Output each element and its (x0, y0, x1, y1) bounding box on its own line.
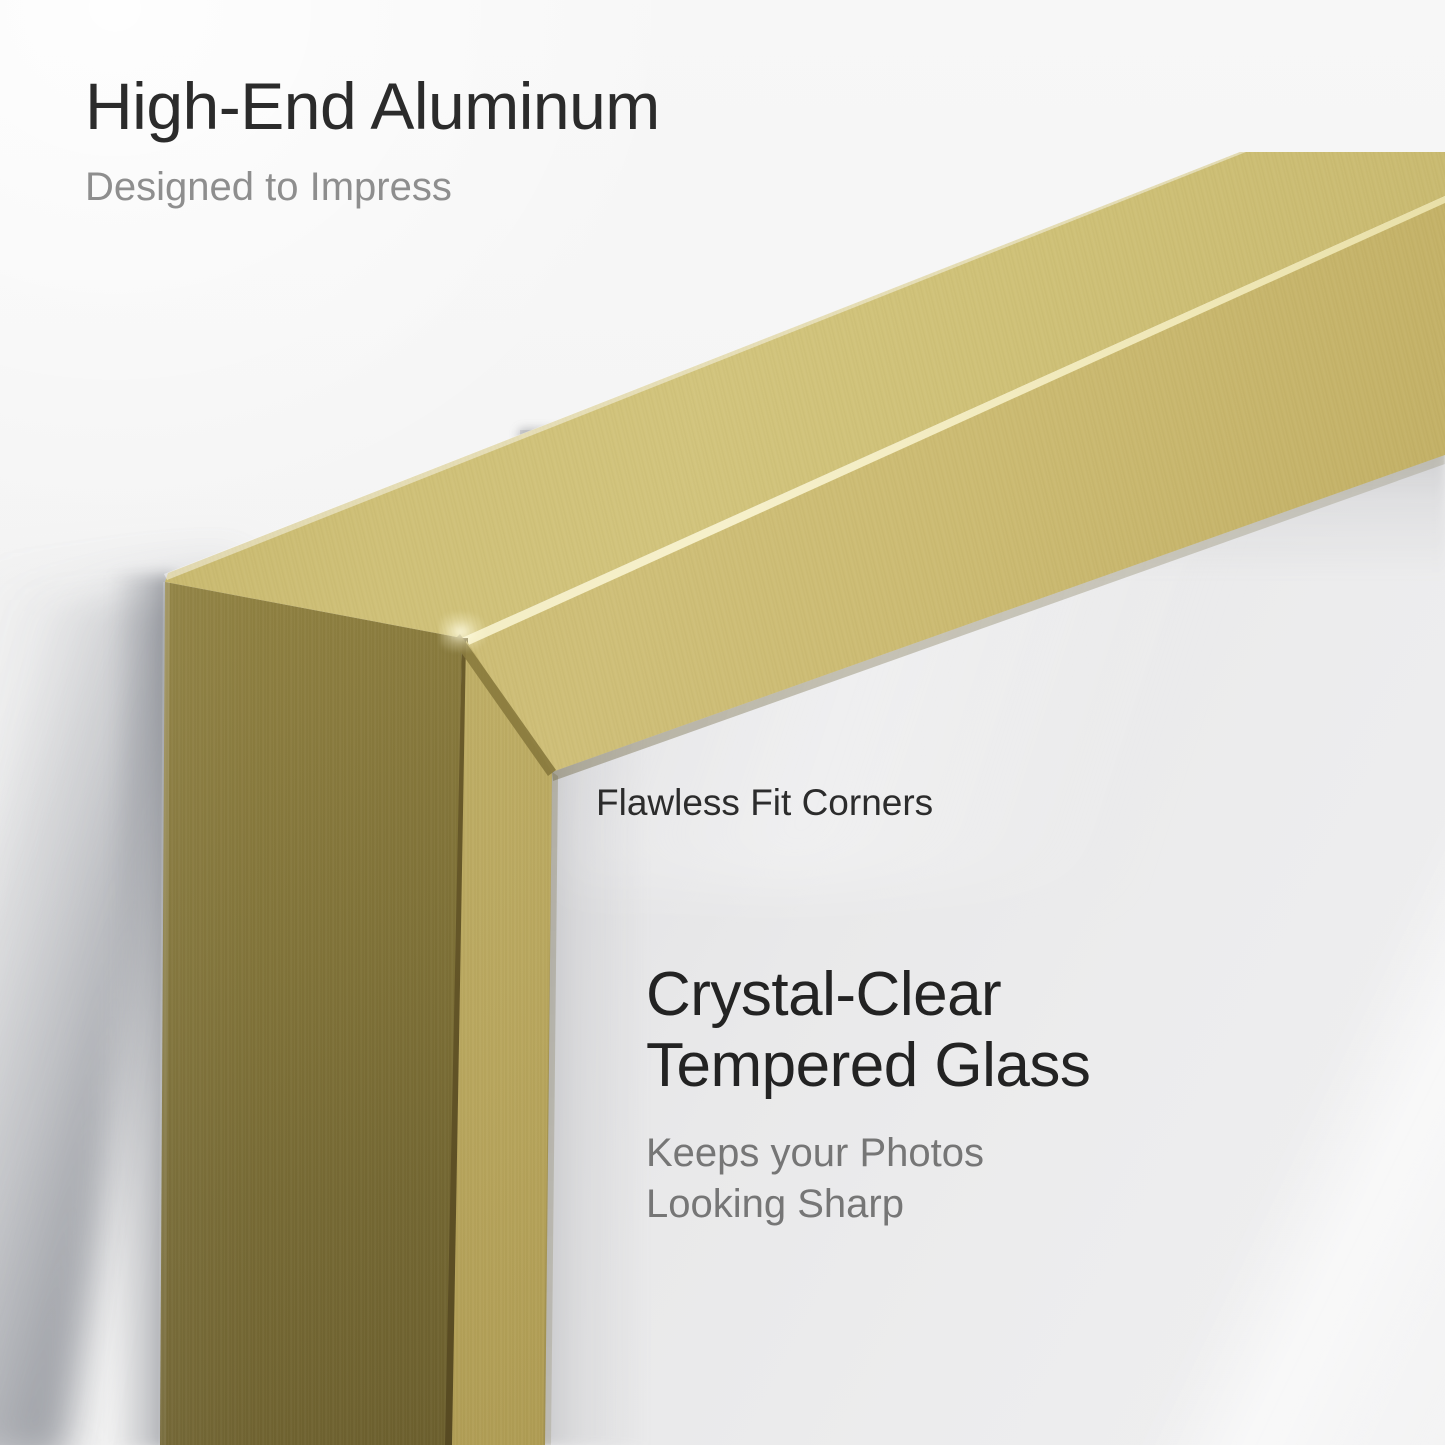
glass-callout-heading-line-1: Crystal-Clear (646, 960, 1090, 1031)
glass-callout-sub-line-2: Looking Sharp (646, 1180, 1090, 1229)
glass-callout-heading-line-2: Tempered Glass (646, 1031, 1090, 1102)
page-title: High-End Aluminum (85, 72, 660, 141)
frame-corner-glint (440, 612, 486, 652)
page-subtitle: Designed to Impress (85, 165, 660, 209)
glass-callout-sub-line-1: Keeps your Photos (646, 1129, 1090, 1178)
title-block: High-End Aluminum Designed to Impress (85, 72, 660, 209)
corner-callout-label: Flawless Fit Corners (596, 782, 933, 824)
glass-callout-block: Crystal-Clear Tempered Glass Keeps your … (646, 960, 1090, 1229)
product-feature-image: High-End Aluminum Designed to Impress Fl… (0, 0, 1445, 1445)
